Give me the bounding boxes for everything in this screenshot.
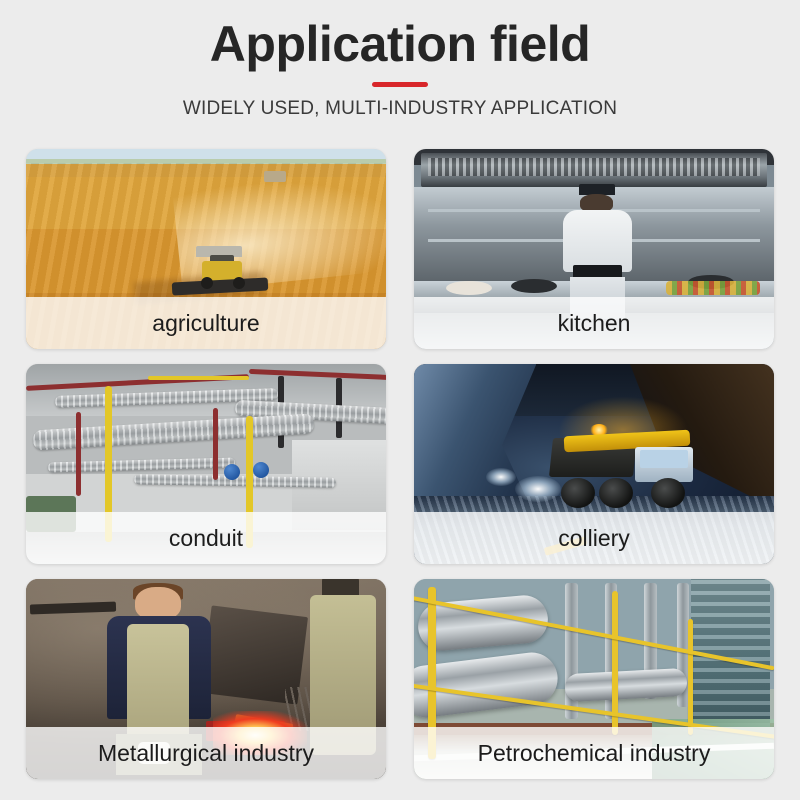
- card-label: conduit: [169, 525, 243, 552]
- insulated-duct: [33, 413, 314, 450]
- card-label: colliery: [558, 525, 630, 552]
- red-riser: [213, 408, 218, 480]
- card-caption-band: conduit: [26, 512, 386, 564]
- blue-valve: [253, 462, 269, 478]
- card-caption-band: agriculture: [26, 297, 386, 349]
- frying-pan: [511, 279, 557, 293]
- card-label: Petrochemical industry: [478, 740, 711, 767]
- red-riser: [76, 412, 81, 496]
- application-card-conduit[interactable]: conduit: [26, 364, 386, 564]
- card-caption-band: Petrochemical industry: [414, 727, 774, 779]
- card-label: kitchen: [558, 310, 631, 337]
- hood-grille: [428, 158, 759, 176]
- application-field-page: Application field WIDELY USED, MULTI-IND…: [0, 0, 800, 800]
- handrail-post: [688, 619, 693, 735]
- haul-truck: [551, 422, 713, 510]
- headlamp: [486, 468, 516, 486]
- yellow-pipe: [148, 376, 249, 380]
- card-caption-band: kitchen: [414, 297, 774, 349]
- combine-harvester: [188, 251, 262, 297]
- blue-valve: [224, 464, 240, 480]
- headlamp: [515, 476, 561, 502]
- application-card-petrochemical-industry[interactable]: Petrochemical industry: [414, 579, 774, 779]
- card-caption-band: colliery: [414, 512, 774, 564]
- application-card-kitchen[interactable]: kitchen: [414, 149, 774, 349]
- page-title: Application field: [0, 16, 800, 72]
- prepared-food: [666, 281, 760, 295]
- application-card-grid: agriculture: [26, 149, 774, 779]
- page-header: Application field WIDELY USED, MULTI-IND…: [0, 0, 800, 120]
- card-label: Metallurgical industry: [98, 740, 314, 767]
- page-subtitle: WIDELY USED, MULTI-INDUSTRY APPLICATION: [0, 98, 800, 120]
- application-card-colliery[interactable]: colliery: [414, 364, 774, 564]
- distant-harvester: [264, 171, 286, 182]
- application-card-agriculture[interactable]: agriculture: [26, 149, 386, 349]
- card-caption-band: Metallurgical industry: [26, 727, 386, 779]
- application-card-metallurgical-industry[interactable]: Metallurgical industry: [26, 579, 386, 779]
- title-accent-bar: [372, 82, 428, 87]
- card-label: agriculture: [152, 310, 259, 337]
